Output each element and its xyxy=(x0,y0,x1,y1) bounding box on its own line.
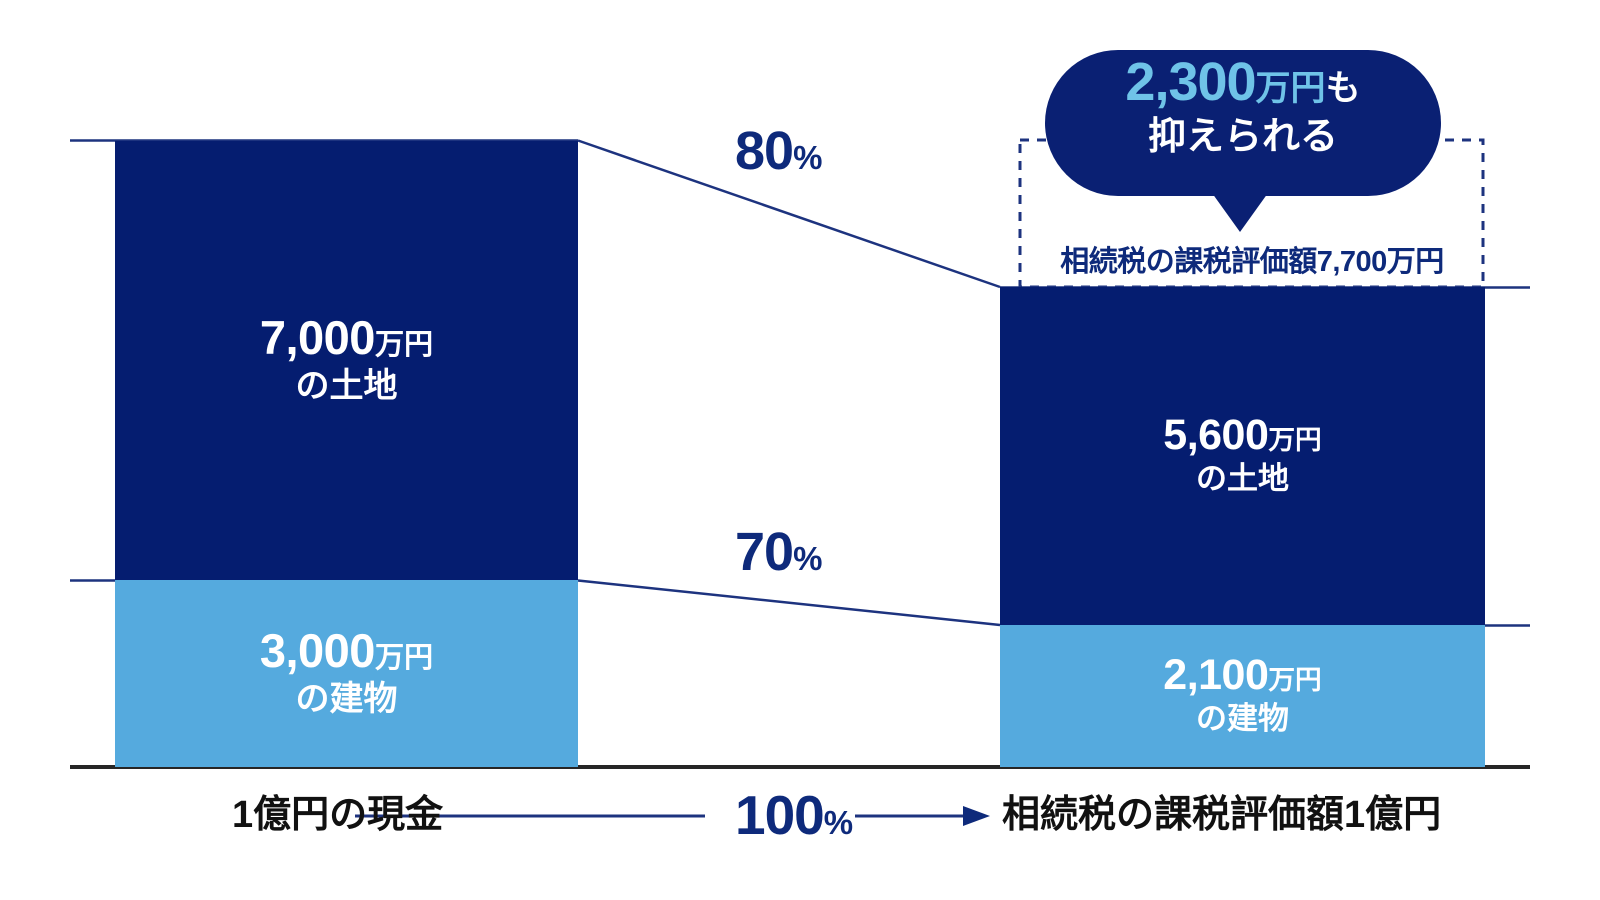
left-land-unit: 万円 xyxy=(375,329,433,361)
callout-bubble-text: 2,300万円も 抑えられる xyxy=(1045,52,1441,159)
footer-percent-label: 100% xyxy=(735,788,853,843)
footer-left-label: 1億円の現金 xyxy=(232,796,443,834)
right-bar-building-segment: 2,100万円 の建物 xyxy=(1000,625,1485,767)
left-bar-building-segment: 3,000万円 の建物 xyxy=(115,580,578,767)
percent-building-number: 70 xyxy=(735,522,793,582)
percent-label-building: 70% xyxy=(735,525,822,579)
footer-right-label: 相続税の課税評価額1億円 xyxy=(1002,796,1441,834)
infographic-canvas: 7,000万円 の土地 3,000万円 の建物 5,600万円 の土地 2,10… xyxy=(0,0,1600,900)
right-land-amount: 5,600万円 xyxy=(1163,413,1321,459)
callout-line-2: 抑えられる xyxy=(1045,116,1441,159)
connector-building-70 xyxy=(578,581,1000,626)
right-building-unit: 万円 xyxy=(1268,665,1321,695)
right-bar-land-segment: 5,600万円 の土地 xyxy=(1000,287,1485,625)
callout-line-1: 2,300万円も xyxy=(1045,52,1441,112)
left-building-label: の建物 xyxy=(296,678,398,721)
left-land-amount: 7,000万円 xyxy=(260,313,433,363)
percent-land-number: 80 xyxy=(735,121,793,181)
callout-savings-particle: も xyxy=(1326,69,1361,108)
left-land-label: の土地 xyxy=(296,365,398,408)
footer-percent-number: 100 xyxy=(735,784,824,846)
right-land-label: の土地 xyxy=(1196,460,1289,499)
footer-percent-symbol: % xyxy=(824,804,853,841)
right-building-label: の建物 xyxy=(1196,700,1289,739)
right-building-amount: 2,100万円 xyxy=(1163,653,1321,699)
callout-savings-unit: 万円 xyxy=(1256,69,1326,108)
left-building-amount: 3,000万円 xyxy=(260,626,433,676)
callout-savings-amount: 2,300 xyxy=(1125,52,1255,112)
footer-flow-row: 1億円の現金 100% 相続税の課税評価額1億円 xyxy=(0,786,1600,846)
left-building-unit: 万円 xyxy=(375,642,433,674)
left-bar-land-segment: 7,000万円 の土地 xyxy=(115,141,578,580)
percent-building-symbol: % xyxy=(793,540,822,577)
dotted-box-caption: 相続税の課税評価額7,700万円 xyxy=(1020,238,1484,280)
percent-label-land: 80% xyxy=(735,124,822,178)
percent-land-symbol: % xyxy=(793,139,822,176)
right-land-unit: 万円 xyxy=(1268,425,1321,455)
